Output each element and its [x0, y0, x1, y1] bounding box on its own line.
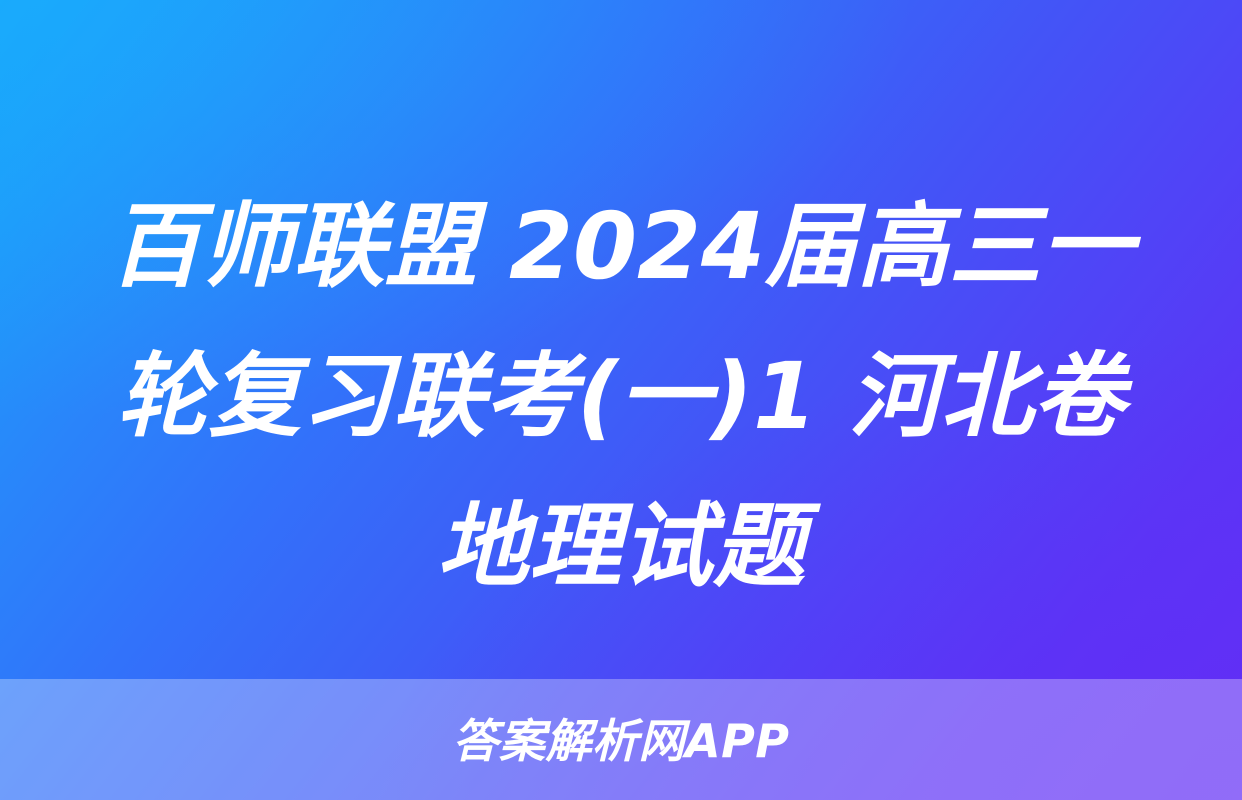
footer-watermark-band: 答案解析网APP	[0, 679, 1242, 800]
app-watermark-label: 答案解析网APP	[452, 718, 789, 764]
page-title: 百师联盟 2024届高三一 轮复习联考(一)1 河北卷 地理试题	[0, 172, 1242, 622]
title-line-3: 地理试题	[18, 472, 1224, 622]
title-line-2: 轮复习联考(一)1 河北卷	[18, 322, 1224, 472]
poster-canvas: 百师联盟 2024届高三一 轮复习联考(一)1 河北卷 地理试题 答案解析网AP…	[0, 0, 1242, 800]
title-line-1: 百师联盟 2024届高三一	[18, 172, 1224, 322]
